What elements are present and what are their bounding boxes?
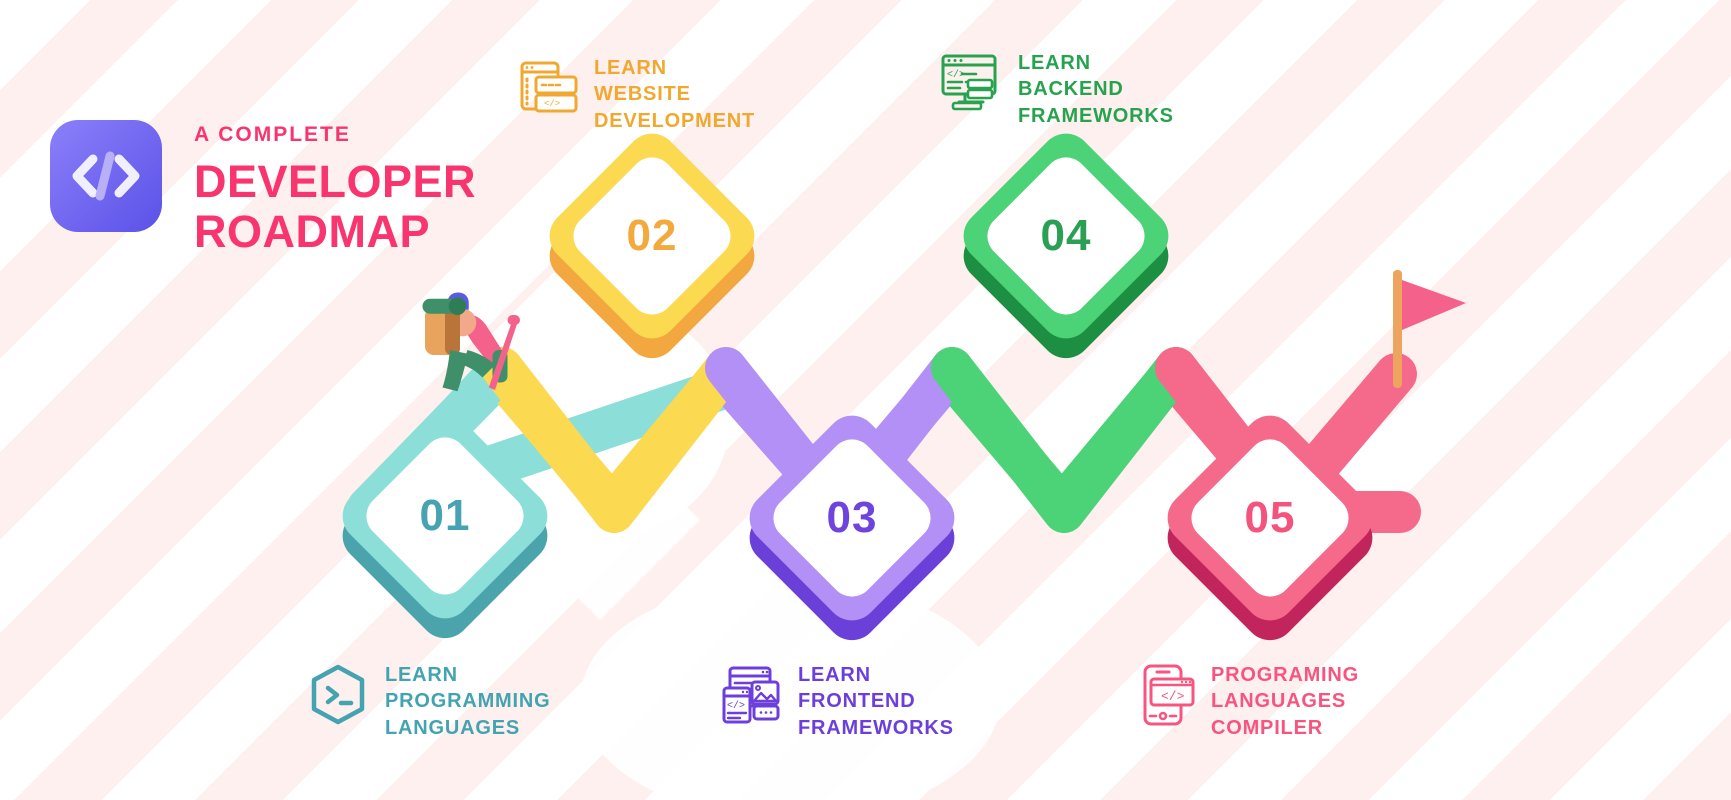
step-number: 02: [572, 156, 732, 316]
step-label: LEARN WEBSITE DEVELOPMENT: [594, 55, 755, 134]
finish-flag-icon: [1393, 270, 1466, 388]
title-block: A COMPLETE DEVELOPER ROADMAP: [50, 120, 476, 258]
step-node-03[interactable]: 03: [772, 438, 932, 598]
layout-image-code-icon: </>: [718, 662, 784, 733]
step-label: PROGRAMING LANGUAGES COMPILER: [1211, 662, 1359, 741]
browser-windows-code-icon: </>: [518, 55, 580, 122]
page-title: DEVELOPER ROADMAP: [194, 157, 476, 258]
step-number: 04: [986, 156, 1146, 316]
title-text-group: A COMPLETE DEVELOPER ROADMAP: [194, 120, 476, 258]
step-caption-02: </> LEARN WEBSITE DEVELOPMENT: [518, 55, 755, 134]
monitor-server-code-icon: </>: [938, 50, 1004, 121]
svg-text:</>: </>: [1161, 689, 1185, 704]
kicker-text: A COMPLETE: [194, 124, 476, 145]
svg-text:</>: </>: [544, 99, 560, 109]
step-label: LEARN PROGRAMMING LANGUAGES: [385, 662, 550, 741]
step-label: LEARN FRONTEND FRAMEWORKS: [798, 662, 954, 741]
step-node-05[interactable]: 05: [1190, 438, 1350, 598]
hiker-with-backpack-icon: [423, 293, 521, 392]
step-caption-04: </> LEARN BACKEND FRAMEWORKS: [938, 50, 1174, 129]
logo-tile: [50, 120, 162, 232]
code-brackets-icon: [69, 148, 143, 204]
infographic-canvas: A COMPLETE DEVELOPER ROADMAP 01 LEARN PR…: [0, 0, 1731, 800]
step-number: 01: [365, 436, 525, 596]
step-caption-01: LEARN PROGRAMMING LANGUAGES: [305, 662, 550, 741]
step-node-01[interactable]: 01: [365, 436, 525, 596]
hexagon-terminal-icon: [305, 662, 371, 733]
mobile-code-icon: </>: [1135, 662, 1197, 733]
step-node-04[interactable]: 04: [986, 156, 1146, 316]
step-caption-05: </> PROGRAMING LANGUAGES COMPILER: [1135, 662, 1359, 741]
step-node-02[interactable]: 02: [572, 156, 732, 316]
svg-text:</>: </>: [727, 700, 745, 712]
step-caption-03: </> LEARN FRONTEND FRAMEWORKS: [718, 662, 954, 741]
step-number: 03: [772, 438, 932, 598]
step-number: 05: [1190, 438, 1350, 598]
step-label: LEARN BACKEND FRAMEWORKS: [1018, 50, 1174, 129]
